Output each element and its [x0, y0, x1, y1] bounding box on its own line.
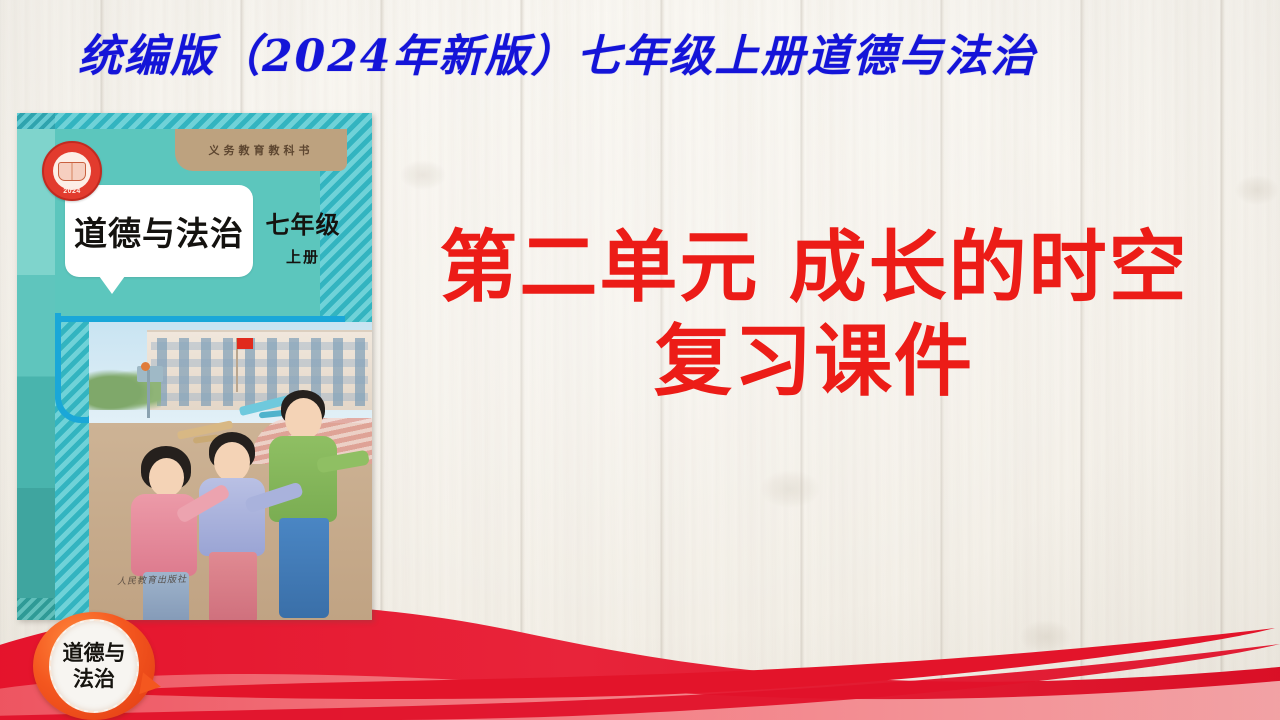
header-subtitle: 统编版（2024年新版）七年级上册道德与法治	[78, 28, 1198, 86]
open-book-icon	[58, 162, 86, 181]
basketball-icon	[141, 362, 150, 371]
book-series-banner: 义务教育教科书	[175, 129, 347, 171]
basketball-pole	[147, 370, 150, 418]
book-series-banner-text: 义务教育教科书	[209, 142, 314, 158]
main-title: 第二单元 成长的时空 复习课件	[378, 222, 1250, 410]
textbook-cover-image: 义务教育教科书 2024 道德与法治 七年级 上册	[17, 113, 372, 620]
book-grade-label: 七年级	[264, 205, 342, 240]
seal-year-label: 2024	[44, 188, 100, 195]
badge-pointer-icon	[139, 672, 163, 697]
book-cover-illustration: 人民教育出版社	[89, 322, 372, 620]
subject-badge: 道德与 法治	[33, 612, 155, 720]
main-title-line-2: 复习课件	[378, 314, 1250, 410]
girl-left-head	[149, 458, 184, 497]
publisher-signature: 人民教育出版社	[117, 572, 187, 587]
student-girl-left	[129, 446, 225, 620]
badge-line-2: 法治	[73, 666, 115, 692]
book-spine-stripe-top	[17, 113, 55, 129]
badge-line-1: 道德与	[63, 640, 126, 666]
national-review-seal-icon: 2024	[42, 141, 102, 201]
seal-inner-disc	[53, 152, 91, 190]
book-title-text: 道德与法治	[74, 207, 244, 255]
china-flag-icon	[237, 338, 253, 349]
book-grade-block: 七年级 上册	[264, 205, 342, 267]
book-title-bubble: 道德与法治	[65, 185, 253, 277]
book-volume-label: 上册	[264, 246, 342, 267]
main-title-line-1: 第二单元 成长的时空	[378, 222, 1250, 314]
badge-face: 道德与 法治	[49, 619, 139, 713]
book-blue-curve	[55, 313, 89, 423]
slide-canvas: 统编版（2024年新版）七年级上册道德与法治 义务教育教科书 2024 道德与法…	[0, 0, 1280, 720]
